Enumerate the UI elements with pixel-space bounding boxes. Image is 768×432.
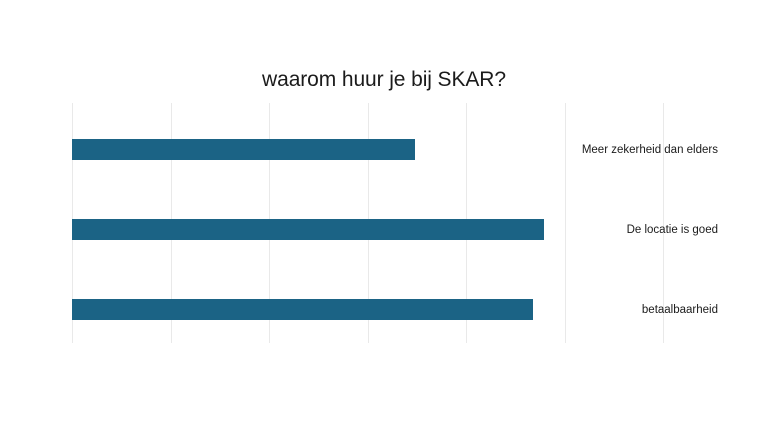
category-label: De locatie is goed bbox=[418, 223, 718, 237]
category-label: Meer zekerheid dan elders bbox=[418, 143, 718, 157]
category-label: betaalbaarheid bbox=[418, 303, 718, 317]
chart-title: waarom huur je bij SKAR? bbox=[0, 66, 768, 94]
bar-0[interactable] bbox=[72, 139, 415, 160]
chart-container: waarom huur je bij SKAR? 00,10,20,30,40,… bbox=[0, 0, 768, 432]
